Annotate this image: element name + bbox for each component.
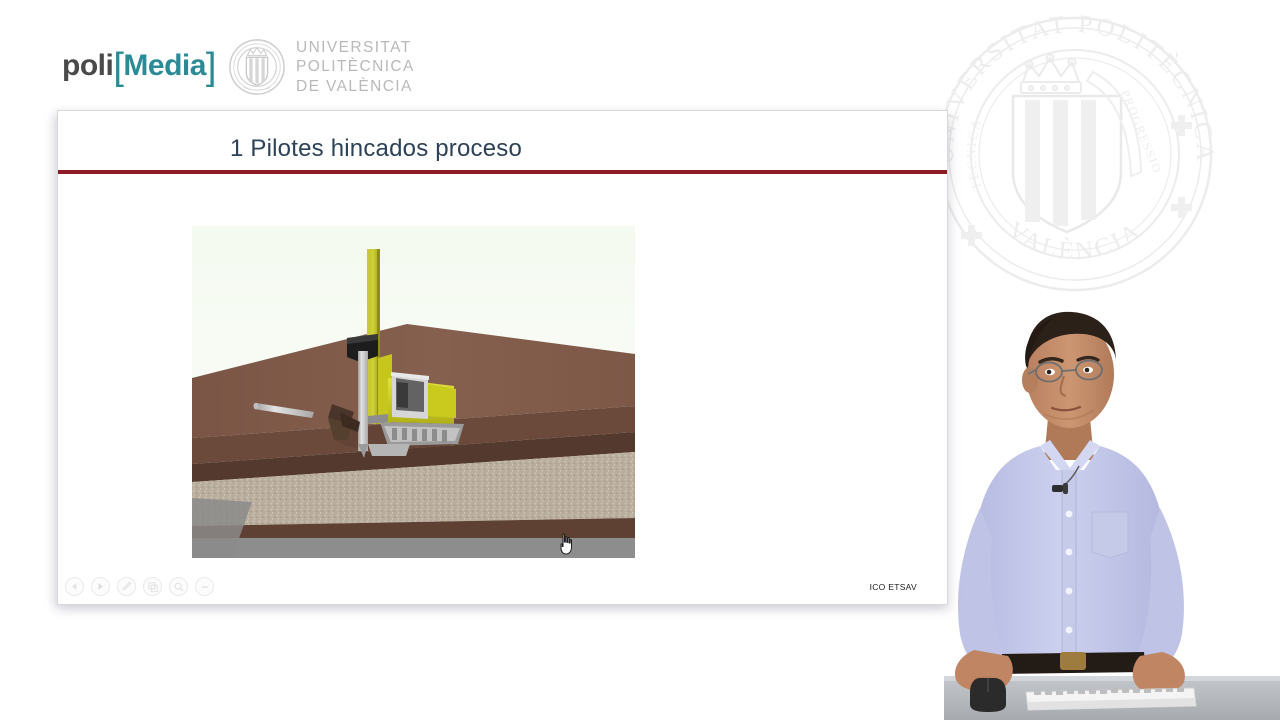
upv-line-2: POLITÈCNICA [296,57,415,76]
polimedia-media-text: Media [123,49,206,82]
polimedia-poli-text: poli [62,49,113,82]
watermark-left-arc-text: TECNICA [963,116,984,192]
brand-header: poli[Media] UNIVERSITAT POLITÈCNICA DE V… [0,0,1280,108]
prev-triangle-icon [70,582,79,591]
polimedia-bracket-close: ] [206,46,216,88]
polimedia-logo: poli[Media] [62,48,216,86]
pen-button[interactable] [117,577,136,596]
presenter-video [944,300,1280,720]
copy-icon [148,582,158,592]
polimedia-bracket-open: [ [113,46,123,88]
stage-credit-label: ICO ETSAV [870,582,917,592]
upv-seal-icon [228,38,286,96]
player-toolbar[interactable] [65,577,214,596]
keyboard [1026,688,1196,710]
slide-panel[interactable]: 1 Pilotes hincados proceso [57,110,948,605]
driven-pile [358,351,368,458]
magnifier-icon [174,582,184,592]
more-button[interactable] [195,577,214,596]
pile-driving-animation[interactable] [192,226,635,558]
title-divider-rule [58,170,948,174]
upv-logo-lockup: UNIVERSITAT POLITÈCNICA DE VALÈNCIA [228,38,415,96]
play-button[interactable] [91,577,110,596]
previous-button[interactable] [65,577,84,596]
copy-button[interactable] [143,577,162,596]
dash-icon [200,582,210,592]
play-triangle-icon [96,582,105,591]
watermark-shield [1013,96,1121,232]
upv-line-3: DE VALÈNCIA [296,77,415,96]
pen-icon [121,581,132,592]
upv-wordmark: UNIVERSITAT POLITÈCNICA DE VALÈNCIA [296,38,415,96]
watermark-arc-bottom-text: VALÈNCIA [1002,217,1147,266]
upv-line-1: UNIVERSITAT [296,38,415,57]
slide-title: 1 Pilotes hincados proceso [230,135,522,163]
zoom-button[interactable] [169,577,188,596]
